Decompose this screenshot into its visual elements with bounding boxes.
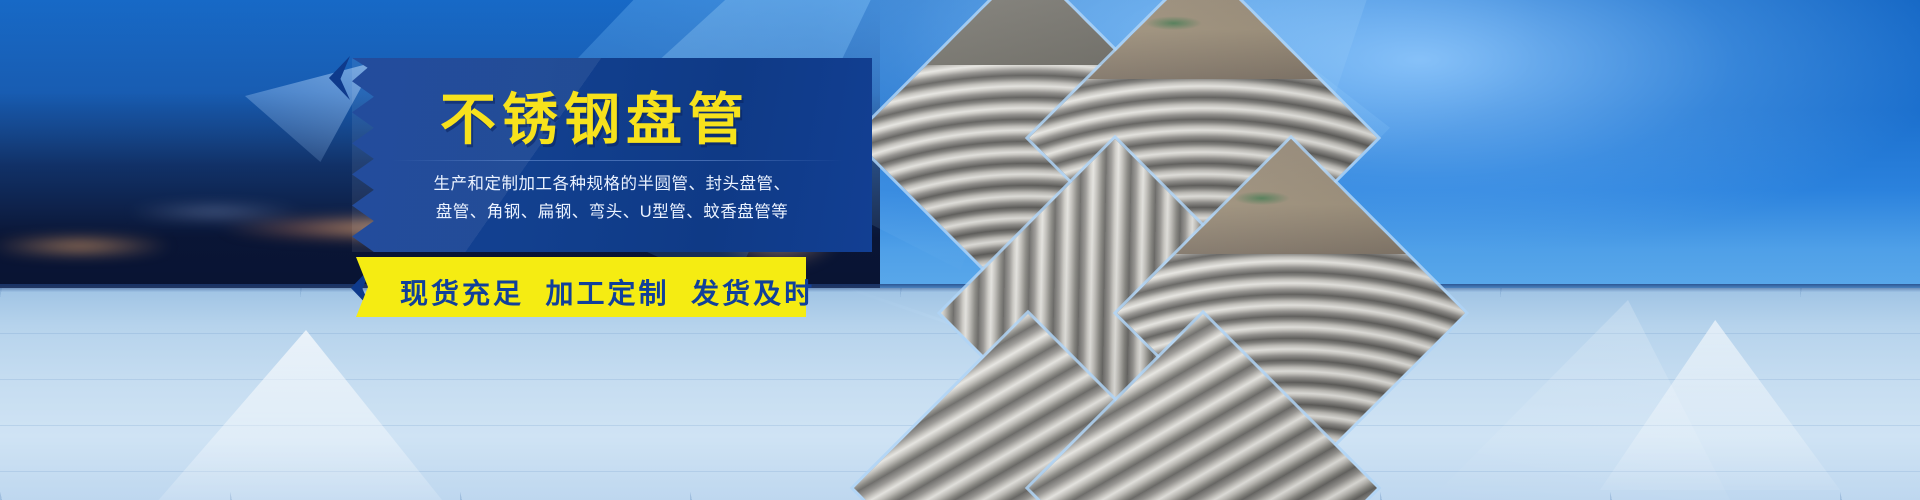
banner-subtitle-line-2: 盘管、角钢、扁钢、弯头、U型管、蚊香盘管等 <box>352 198 872 222</box>
diamond-photo-gallery <box>820 0 1460 500</box>
banner-subtitle-line-1: 生产和定制加工各种规格的半圆管、封头盘管、 <box>352 170 872 194</box>
headline-divider <box>392 160 844 161</box>
banner-title: 不锈钢盘管 <box>440 92 860 148</box>
hero-banner: 不锈钢盘管 生产和定制加工各种规格的半圆管、封头盘管、 盘管、角钢、扁钢、弯头、… <box>0 0 1920 500</box>
highlights-ribbon-text: 现货充足 加工定制 发货及时 <box>400 272 800 312</box>
